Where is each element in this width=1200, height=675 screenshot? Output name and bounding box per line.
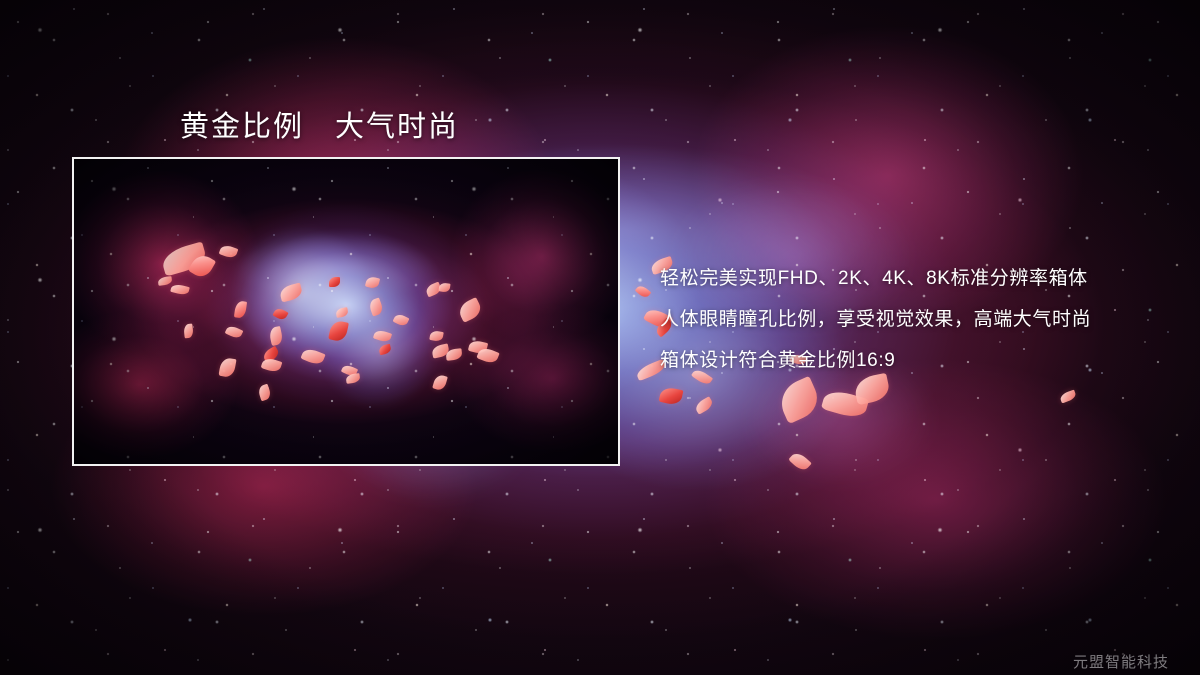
page-title: 黄金比例 大气时尚 (180, 103, 459, 145)
petal (788, 450, 812, 473)
photo-vignette (74, 159, 618, 464)
petal (693, 396, 714, 415)
body-line-1: 轻松完美实现FHD、2K、4K、8K标准分辨率箱体 (660, 258, 1160, 299)
body-text-block: 轻松完美实现FHD、2K、4K、8K标准分辨率箱体 人体眼睛瞳孔比例，享受视觉效… (660, 258, 1160, 381)
body-line-3: 箱体设计符合黄金比例16:9 (660, 340, 1160, 381)
petal (774, 376, 823, 424)
petal (659, 386, 684, 406)
photo-frame (72, 157, 620, 466)
watermark: 元盟智能科技 (1073, 651, 1169, 672)
petal (635, 284, 652, 300)
presentation-slide: 黄金比例 大气时尚 轻松完美实现FHD、2K、4K、8K标准分辨率箱体 人体眼睛… (0, 0, 1200, 675)
petal (1059, 390, 1077, 404)
body-line-2: 人体眼睛瞳孔比例，享受视觉效果，高端大气时尚 (660, 299, 1160, 340)
photo-inner (74, 159, 618, 464)
petal (821, 387, 869, 420)
